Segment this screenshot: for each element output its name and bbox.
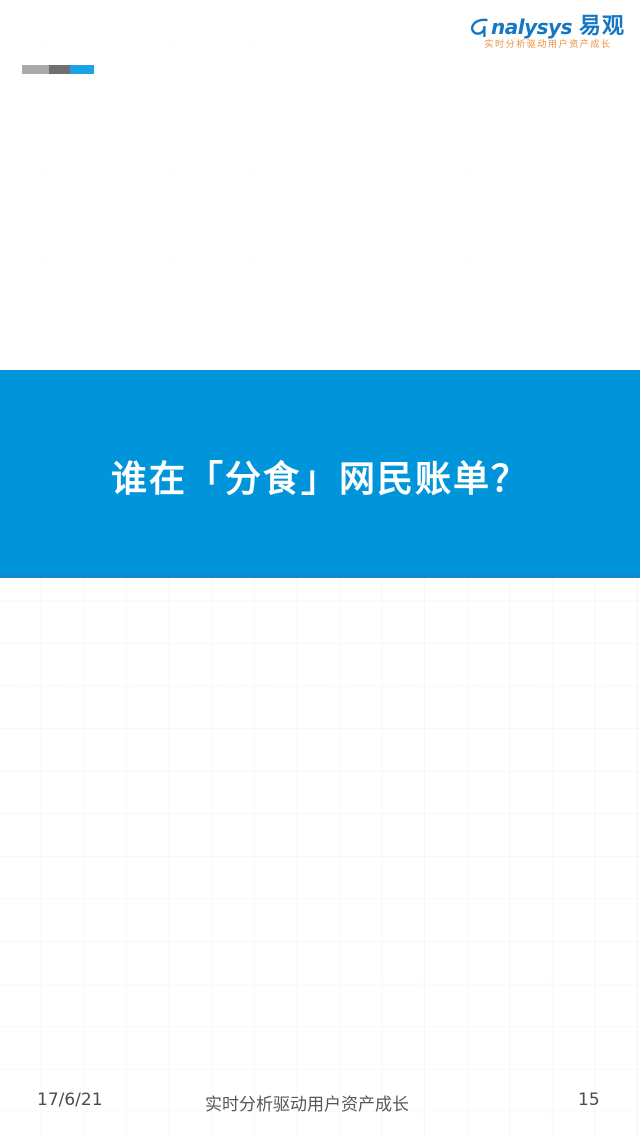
page-number: 15: [578, 1090, 600, 1110]
logo-tagline: 实时分析驱动用户资产成长: [474, 41, 622, 50]
logo-text-en: nalysys: [491, 17, 572, 37]
swoosh-a-icon: [471, 18, 488, 37]
grid-mask-upper: [0, 0, 640, 372]
progress-bar: [22, 65, 94, 74]
logo-wordmark: nalysys 易观: [474, 16, 622, 38]
progress-segment-2: [49, 65, 70, 74]
footer-slogan: 实时分析驱动用户资产成长: [205, 1090, 409, 1115]
slide-page: nalysys 易观 实时分析驱动用户资产成长 谁在「分食」网民账单？ 17/6…: [0, 0, 640, 1138]
progress-segment-1: [22, 65, 49, 74]
footer-date: 17/6/21: [37, 1090, 103, 1110]
section-title-band: 谁在「分食」网民账单？: [0, 370, 640, 578]
logo-text-cn: 易观: [579, 16, 625, 38]
grid-mask-lower: [0, 578, 640, 1138]
footer: 17/6/21 实时分析驱动用户资产成长 15: [0, 1082, 640, 1128]
page-title: 谁在「分食」网民账单？: [111, 450, 529, 502]
progress-segment-3: [70, 65, 94, 74]
brand-logo: nalysys 易观 实时分析驱动用户资产成长: [474, 16, 622, 50]
